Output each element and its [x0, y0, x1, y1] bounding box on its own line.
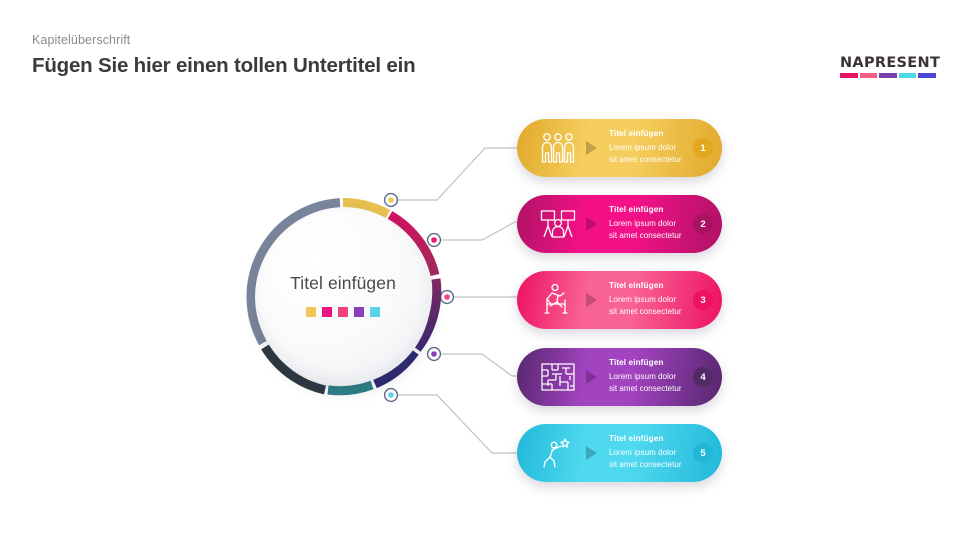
maze-icon: [539, 359, 577, 395]
hub-swatch-5: [370, 307, 380, 317]
hub-swatch-2: [322, 307, 332, 317]
ring-seg-teal: [328, 385, 372, 391]
step-card-5[interactable]: Titel einfügen Lorem ipsum dolor sit ame…: [517, 424, 722, 482]
step-card-1[interactable]: Titel einfügen Lorem ipsum dolor sit ame…: [517, 119, 722, 177]
step-card-3[interactable]: Titel einfügen Lorem ipsum dolor sit ame…: [517, 271, 722, 329]
three-people-icon: [539, 130, 577, 166]
step-card-4[interactable]: Titel einfügen Lorem ipsum dolor sit ame…: [517, 348, 722, 406]
card-arrow-icon: [586, 217, 597, 231]
person-reaching-star-icon: [539, 435, 577, 471]
step-number-badge: 1: [693, 138, 713, 158]
step-card-2[interactable]: Titel einfügen Lorem ipsum dolor sit ame…: [517, 195, 722, 253]
hurdle-runner-icon: [539, 282, 577, 318]
card-arrow-icon: [586, 370, 597, 384]
card-arrow-icon: [586, 293, 597, 307]
step-number-badge: 3: [693, 290, 713, 310]
step-number-badge: 4: [693, 367, 713, 387]
slide-canvas: Kapitelüberschrift Fügen Sie hier einen …: [0, 0, 960, 540]
hub-swatch-4: [354, 307, 364, 317]
hub-swatches: [243, 307, 443, 317]
hub-swatch-1: [306, 307, 316, 317]
card-arrow-icon: [586, 446, 597, 460]
card-arrow-icon: [586, 141, 597, 155]
hub-swatch-3: [338, 307, 348, 317]
presentation-boards-icon: [539, 206, 577, 242]
connector-lines: [0, 0, 960, 540]
step-number-badge: 5: [693, 443, 713, 463]
hub-face: [255, 209, 431, 385]
center-hub: Titel einfügen: [243, 197, 443, 397]
hub-title: Titel einfügen: [243, 273, 443, 294]
step-number-badge: 2: [693, 214, 713, 234]
